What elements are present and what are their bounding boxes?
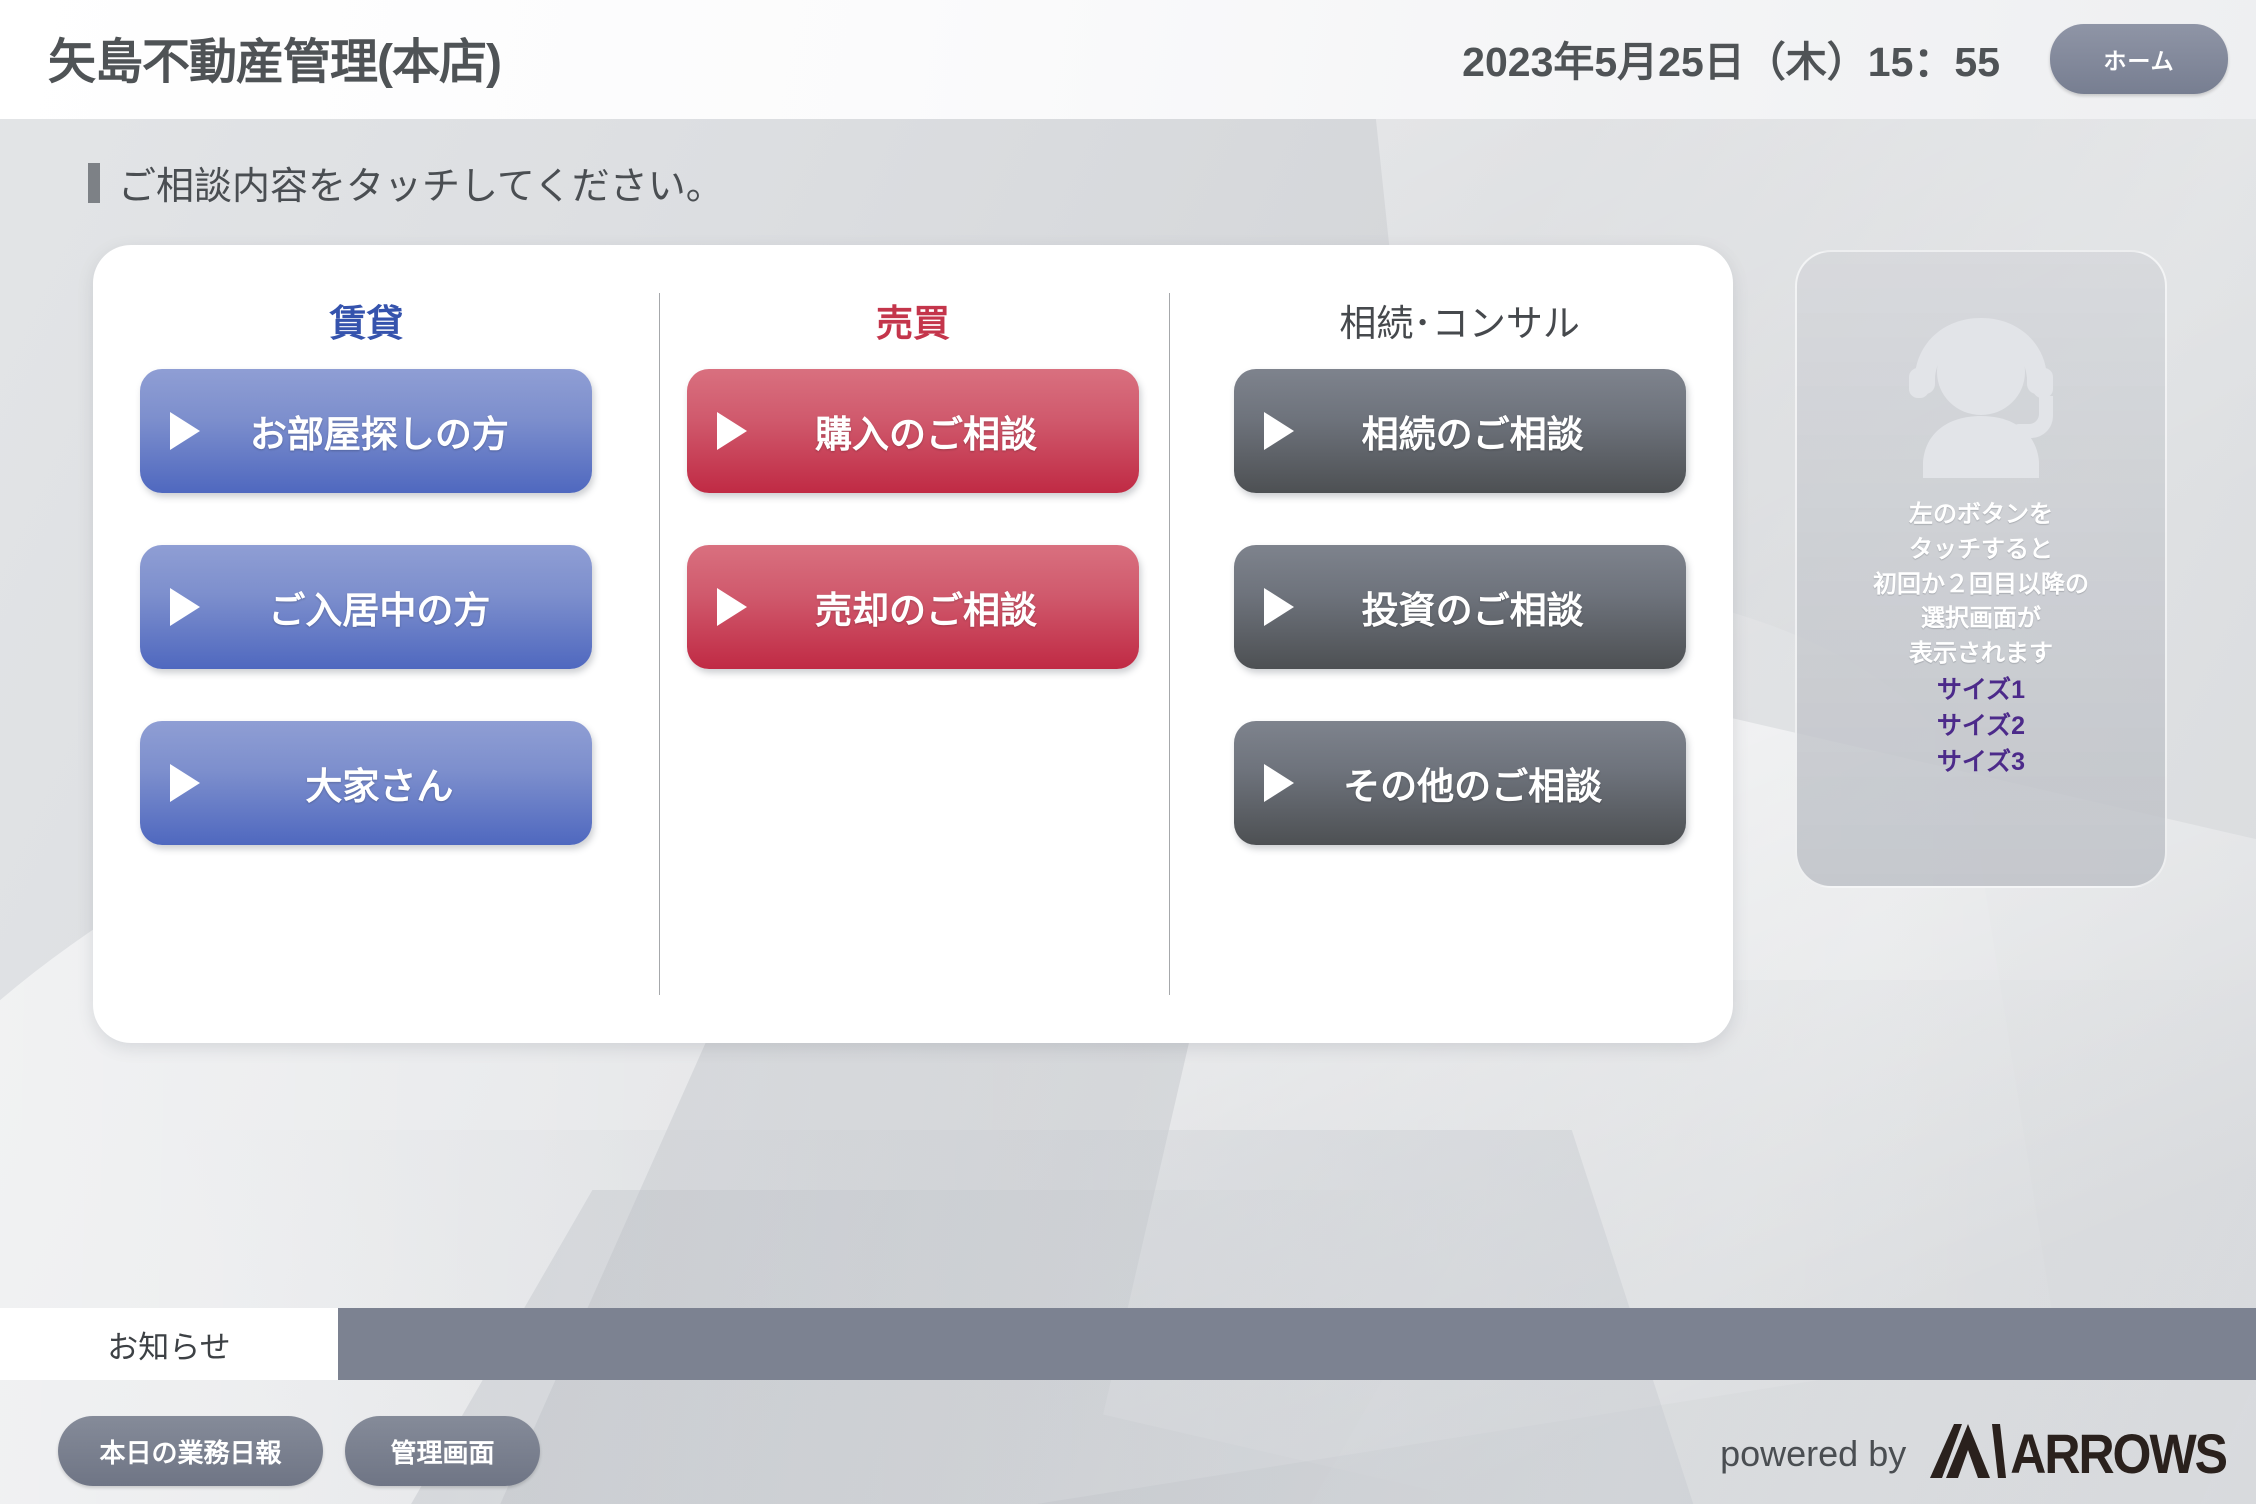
button-investment-consult[interactable]: 投資のご相談 (1234, 545, 1686, 669)
daily-report-button[interactable]: 本日の業務日報 (58, 1416, 323, 1486)
powered-by-label: powered by (1720, 1433, 1906, 1475)
home-button[interactable]: ホーム (2050, 24, 2228, 94)
info-panel-text: 左のボタンを タッチすると 初回か２回目以降の 選択画面が 表示されます サイズ… (1873, 498, 2089, 781)
button-sale-consult[interactable]: 売却のご相談 (687, 545, 1139, 669)
info-line: 初回か２回目以降の (1873, 568, 2089, 603)
notification-strip: お知らせ (0, 1308, 2256, 1380)
play-triangle-icon (170, 588, 200, 626)
column-heading-inheritance: 相続･コンサル (1186, 293, 1733, 347)
button-label: 投資のご相談 (1294, 580, 1686, 634)
column-inheritance: 相続･コンサル 相続のご相談 投資のご相談 その他のご相談 (1186, 245, 1733, 1043)
button-label: その他のご相談 (1294, 756, 1686, 810)
button-label: 大家さん (200, 756, 592, 810)
play-triangle-icon (170, 764, 200, 802)
app-header: 矢島不動産管理(本店) 2023年5月25日（木）15：55 ホーム (0, 0, 2256, 119)
instruction-marker-icon (88, 163, 100, 203)
info-line: 選択画面が (1873, 602, 2089, 637)
info-line: タッチすると (1873, 533, 2089, 568)
arrows-chevron-icon (1928, 1424, 2006, 1483)
info-panel: 左のボタンを タッチすると 初回か２回目以降の 選択画面が 表示されます サイズ… (1795, 250, 2167, 888)
button-label: 相続のご相談 (1294, 404, 1686, 458)
play-triangle-icon (1264, 412, 1294, 450)
admin-screen-button[interactable]: 管理画面 (345, 1416, 540, 1486)
button-room-search[interactable]: お部屋探しの方 (140, 369, 592, 493)
play-triangle-icon (1264, 764, 1294, 802)
page-title: 矢島不動産管理(本店) (48, 22, 501, 92)
button-inheritance-consult[interactable]: 相続のご相談 (1234, 369, 1686, 493)
button-purchase-consult[interactable]: 購入のご相談 (687, 369, 1139, 493)
column-heading-trade: 売買 (640, 293, 1187, 347)
notification-message-bar[interactable] (338, 1308, 2256, 1380)
admin-screen-label: 管理画面 (390, 1433, 494, 1470)
column-heading-rental: 賃貸 (93, 293, 640, 347)
column-trade: 売買 購入のご相談 売却のご相談 (640, 245, 1187, 1043)
play-triangle-icon (717, 412, 747, 450)
button-label: 購入のご相談 (747, 404, 1139, 458)
notification-tab[interactable]: お知らせ (0, 1308, 338, 1380)
headset-operator-icon (1881, 310, 2081, 480)
size-option-1[interactable]: サイズ1 (1873, 672, 2089, 708)
button-label: ご入居中の方 (200, 580, 592, 634)
size-option-2[interactable]: サイズ2 (1873, 708, 2089, 744)
instruction-row: ご相談内容をタッチしてください。 (88, 155, 724, 210)
info-line: 左のボタンを (1873, 498, 2089, 533)
powered-by-block: powered by ARROWS (1720, 1424, 2226, 1483)
button-landlord[interactable]: 大家さん (140, 721, 592, 845)
button-other-consult[interactable]: その他のご相談 (1234, 721, 1686, 845)
arrows-logo: ARROWS (1928, 1424, 2226, 1483)
datetime-display: 2023年5月25日（木）15：55 (1462, 28, 2000, 88)
button-current-tenant[interactable]: ご入居中の方 (140, 545, 592, 669)
consultation-card: 賃貸 お部屋探しの方 ご入居中の方 大家さん 売買 (93, 245, 1733, 1043)
size-option-3[interactable]: サイズ3 (1873, 744, 2089, 780)
play-triangle-icon (1264, 588, 1294, 626)
column-rental: 賃貸 お部屋探しの方 ご入居中の方 大家さん (93, 245, 640, 1043)
play-triangle-icon (170, 412, 200, 450)
notification-tab-label: お知らせ (107, 1322, 230, 1367)
daily-report-label: 本日の業務日報 (99, 1433, 281, 1470)
play-triangle-icon (717, 588, 747, 626)
button-label: 売却のご相談 (747, 580, 1139, 634)
footer-bar: 本日の業務日報 管理画面 powered by ARROWS (0, 1400, 2256, 1504)
arrows-wordmark: ARROWS (2010, 1421, 2226, 1486)
home-button-label: ホーム (2103, 42, 2174, 76)
info-line: 表示されます (1873, 637, 2089, 672)
instruction-text: ご相談内容をタッチしてください。 (118, 155, 724, 210)
button-label: お部屋探しの方 (200, 404, 592, 458)
